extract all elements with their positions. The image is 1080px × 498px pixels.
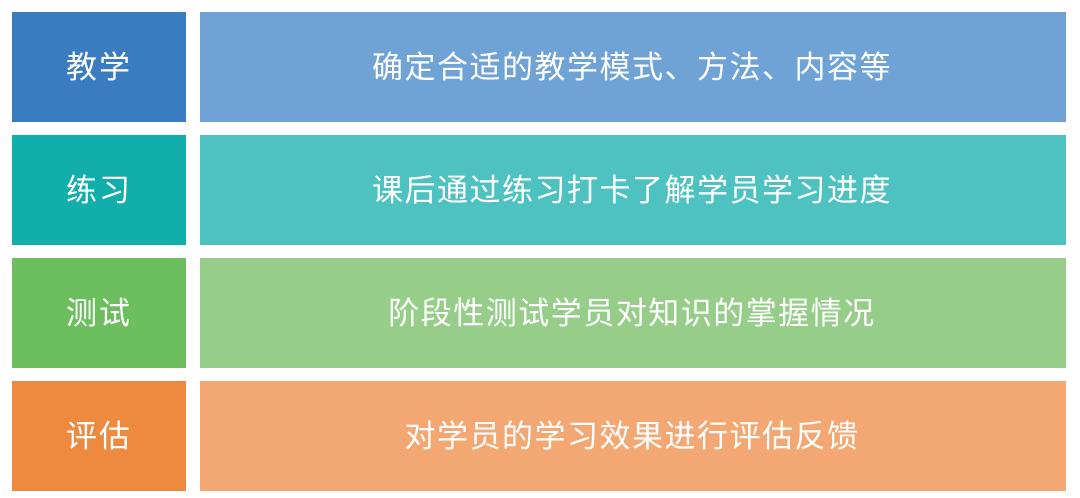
- stage-description-test: 阶段性测试学员对知识的掌握情况: [200, 258, 1066, 368]
- stage-description-evaluation: 对学员的学习效果进行评估反馈: [200, 381, 1066, 491]
- row-gap: [186, 135, 200, 245]
- stage-row-practice: 练习 课后通过练习打卡了解学员学习进度: [12, 135, 1066, 245]
- stage-description-practice: 课后通过练习打卡了解学员学习进度: [200, 135, 1066, 245]
- stage-label-test: 测试: [12, 258, 186, 368]
- row-gap: [186, 381, 200, 491]
- process-stages-diagram: 教学 确定合适的教学模式、方法、内容等 练习 课后通过练习打卡了解学员学习进度 …: [0, 0, 1080, 498]
- stage-row-evaluation: 评估 对学员的学习效果进行评估反馈: [12, 381, 1066, 491]
- row-gap: [186, 12, 200, 122]
- stage-description-teaching: 确定合适的教学模式、方法、内容等: [200, 12, 1066, 122]
- stage-row-test: 测试 阶段性测试学员对知识的掌握情况: [12, 258, 1066, 368]
- stage-label-practice: 练习: [12, 135, 186, 245]
- stage-label-evaluation: 评估: [12, 381, 186, 491]
- stage-label-teaching: 教学: [12, 12, 186, 122]
- row-gap: [186, 258, 200, 368]
- stage-row-teaching: 教学 确定合适的教学模式、方法、内容等: [12, 12, 1066, 122]
